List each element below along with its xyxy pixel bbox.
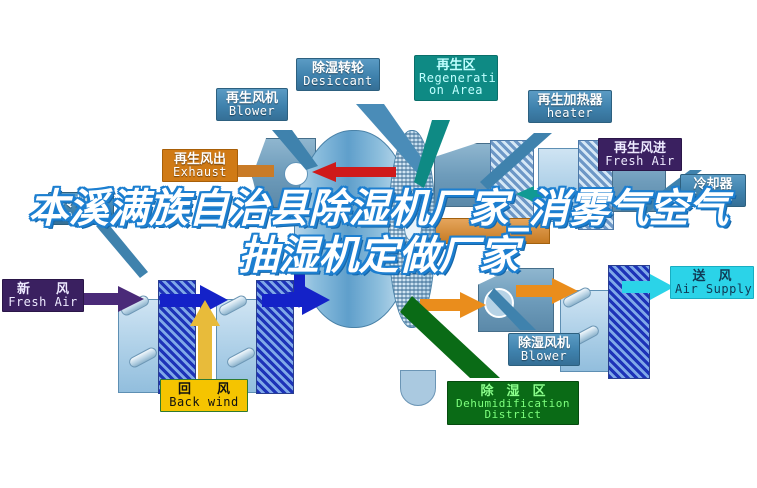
label-air-supply[interactable]: 送 风 Air Supply: [670, 266, 754, 299]
label-regen-blower[interactable]: 再生风机 Blower: [216, 88, 288, 121]
label-cooler-right-cn: 冷却器: [685, 177, 741, 191]
label-desiccant-en: Desiccant: [301, 75, 375, 88]
label-regen-fresh-air-cn: 再生风进: [603, 141, 677, 155]
label-dehum-blower-en: Blower: [513, 350, 575, 363]
label-regen-blower-en: Blower: [221, 105, 283, 118]
label-regen-blower-cn: 再生风机: [221, 91, 283, 105]
label-regen-heater[interactable]: 再生加热器 heater: [528, 90, 612, 123]
label-regen-area-en2: on Area: [419, 84, 493, 97]
label-dehum-district-cn: 除 湿 区: [452, 384, 574, 398]
label-regen-fresh-air-en: Fresh Air: [603, 155, 677, 168]
label-cooler-left[interactable]: 冷却器 Cooler: [48, 192, 114, 225]
label-regen-heater-en: heater: [533, 107, 607, 120]
label-back-wind-en: Back wind: [165, 396, 243, 409]
label-regen-area[interactable]: 再生区 Regenerati on Area: [414, 55, 498, 101]
label-dehum-blower-cn: 除湿风机: [513, 336, 575, 350]
label-exhaust-en: Exhaust: [167, 166, 233, 179]
label-dehum-blower[interactable]: 除湿风机 Blower: [508, 333, 580, 366]
label-regen-area-cn: 再生区: [419, 58, 493, 72]
label-cooler-right-en: Cooler: [685, 191, 741, 204]
label-desiccant-cn: 除湿转轮: [301, 61, 375, 75]
label-desiccant[interactable]: 除湿转轮 Desiccant: [296, 58, 380, 91]
label-fresh-air-cn: 新 风: [7, 282, 79, 296]
label-exhaust[interactable]: 再生风出 Exhaust: [162, 149, 238, 182]
label-exhaust-cn: 再生风出: [167, 152, 233, 166]
label-dehum-district[interactable]: 除 湿 区 Dehumidification District: [447, 381, 579, 425]
label-back-wind[interactable]: 回 风 Back wind: [160, 379, 248, 412]
label-dehum-district-en2: District: [452, 409, 574, 421]
label-regen-heater-cn: 再生加热器: [533, 93, 607, 107]
label-cooler-left-en: Cooler: [53, 209, 109, 222]
label-fresh-air-en: Fresh Air: [7, 296, 79, 309]
diagram-canvas: 除湿转轮 Desiccant 再生风机 Blower 再生区 Regenerat…: [0, 0, 757, 488]
label-cooler-right[interactable]: 冷却器 Cooler: [680, 174, 746, 207]
label-cooler-left-cn: 冷却器: [53, 195, 109, 209]
label-air-supply-en: Air Supply: [675, 283, 749, 296]
label-air-supply-cn: 送 风: [675, 269, 749, 283]
label-regen-fresh-air[interactable]: 再生风进 Fresh Air: [598, 138, 682, 171]
label-back-wind-cn: 回 风: [165, 382, 243, 396]
label-fresh-air[interactable]: 新 风 Fresh Air: [2, 279, 84, 312]
